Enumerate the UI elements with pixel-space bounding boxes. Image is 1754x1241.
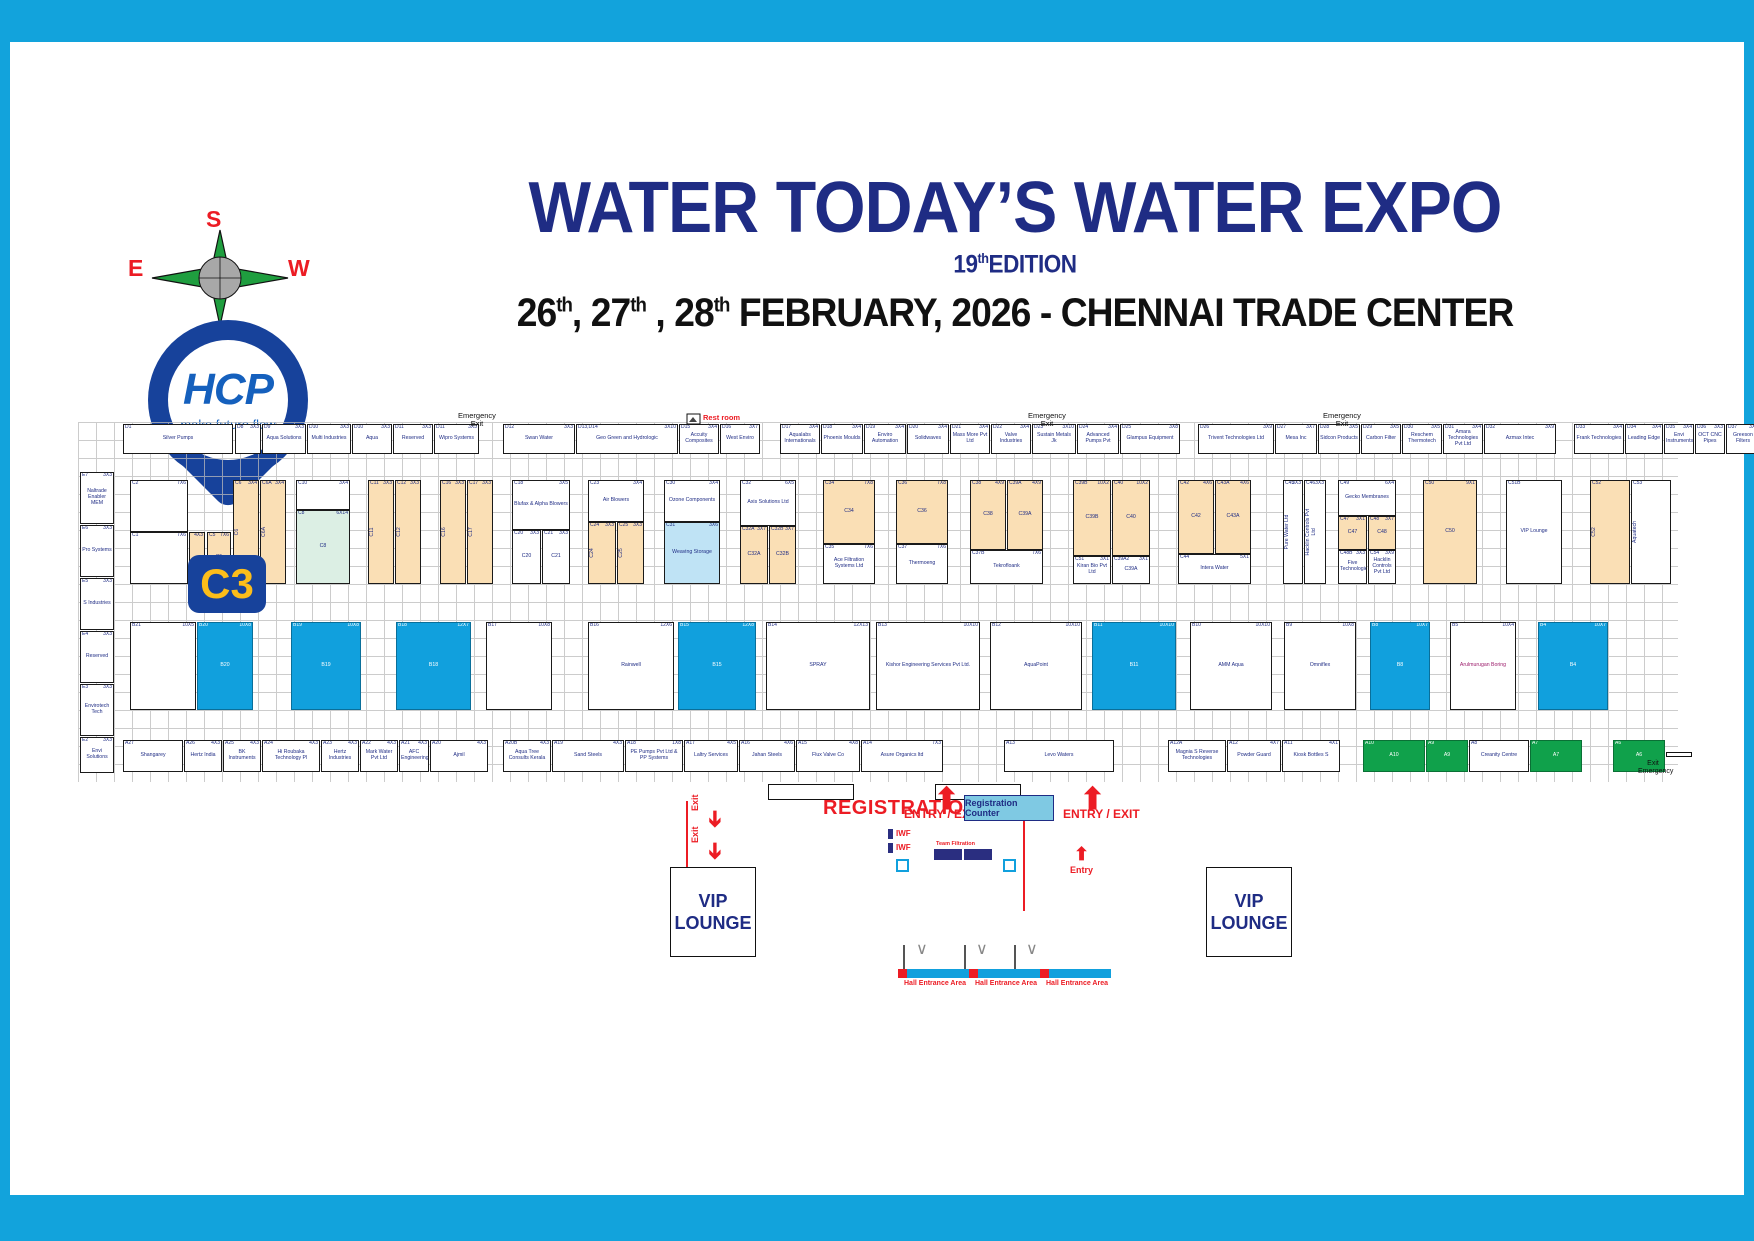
booth-a18[interactable]: A181X8PE Pumps Pvt Ltd & PP Systems [625, 740, 683, 772]
booth-code: D20 [909, 425, 918, 431]
booth-b17[interactable]: B1710X8 [486, 622, 552, 710]
booth-code: C44 [1180, 555, 1189, 561]
team-filtration-label: Team Filtration [936, 841, 975, 847]
booth-dimension: 3X3 [295, 425, 304, 431]
compass-star-icon [150, 228, 290, 328]
exhibition-floorplan[interactable]: D1Silver PumpsD83X3D93X3Aqua SolutionsD1… [78, 422, 1678, 782]
booth-dimension: 3X3 [455, 481, 464, 487]
booth-b11[interactable]: B1110X10B11 [1092, 622, 1176, 710]
booth-b19[interactable]: B1910X8B19 [291, 622, 361, 710]
booth-code: B11 [1094, 623, 1103, 629]
booth-code: C50 [1425, 481, 1434, 487]
booth-name: C6A [261, 527, 285, 537]
booth-code: A7 [1532, 741, 1538, 747]
date-day-2: 27 [591, 291, 631, 335]
booth-d1[interactable]: D1Silver Pumps [123, 424, 233, 454]
booth-d35[interactable]: D353X4Envi Instruments [1664, 424, 1694, 454]
entrance-registration-area[interactable]: REGISTRATION Exit ➔ Exit ➔ ENTRY / EXIT … [78, 787, 1678, 1087]
booth-dimension: 4X3 [540, 741, 549, 747]
booth-c48[interactable]: C483X7C48 [1368, 516, 1396, 550]
booth-dimension: 3X3 [633, 523, 642, 529]
booth-name: C39B [1074, 515, 1110, 521]
booth-b16[interactable]: B1612X6Rainwell [588, 622, 674, 710]
booth-b13[interactable]: B1310X10Kishor Engineering Services Pvt … [876, 622, 980, 710]
booth-code: D10 [354, 425, 363, 431]
booth-d29[interactable]: D293X5Carbon Filter [1361, 424, 1401, 454]
booth-code: D35 [1666, 425, 1675, 431]
edition-ordinal: th [978, 250, 989, 266]
booth-dimension: 10X8 [347, 623, 359, 629]
booth-d10[interactable]: D103X3Aqua [352, 424, 392, 454]
booth-d33[interactable]: D333X4Frank Technologies [1574, 424, 1624, 454]
booth-code: C39B [1075, 481, 1088, 487]
booth-c47[interactable]: C473X1C47 [1338, 516, 1367, 550]
booth-code: C36 [898, 481, 907, 487]
booth-c51[interactable]: C513X1Kiran Bio Pvt Ltd [1073, 556, 1111, 584]
booth-b10[interactable]: B1010X10AMM Aqua [1190, 622, 1272, 710]
booth-d15[interactable]: D153X4Accuity Composites [679, 424, 719, 454]
booth-c50[interactable]: C509X1C50 [1423, 480, 1477, 584]
hall-entrance-label-1: Hall Entrance Area [904, 980, 966, 987]
booth-c11[interactable]: C113X3C11 [368, 480, 394, 584]
booth-d22[interactable]: D223X4Valve Industries [991, 424, 1031, 454]
emergency-exit-label-3: Emergency Exit [1323, 412, 1361, 429]
booth-code: C18 [514, 481, 523, 487]
booth-d19[interactable]: D193X4Enviro Automation [864, 424, 906, 454]
booth-code: A22 [362, 741, 371, 747]
booth-dimension: 3X1 [1356, 517, 1365, 523]
frame-right-bar [1744, 42, 1754, 1195]
booth-c48b[interactable]: C48B3X3Five Technologies [1338, 550, 1367, 584]
booth-name: AFC Engineering [400, 750, 428, 762]
booth-dimension: 3X3 [564, 425, 573, 431]
booth-code: D10 [309, 425, 318, 431]
booth-code: D22 [993, 425, 1002, 431]
booth-code: C17 [469, 481, 478, 487]
booth-code: D33 [1576, 425, 1585, 431]
booth-d9[interactable]: D93X3Aqua Solutions [262, 424, 306, 454]
hall-entrance-label-3: Hall Entrance Area [1046, 980, 1108, 987]
booth-c2[interactable]: C27X6 [130, 480, 188, 532]
booth-dimension: 4X3 [309, 741, 318, 747]
booth-d25[interactable]: D253X8Glampus Equipment [1120, 424, 1180, 454]
hcp-brand-text: HCP [183, 368, 273, 412]
vip-lounge-left[interactable]: VIP LOUNGE [670, 867, 756, 957]
booth-name: Reserved [394, 436, 432, 442]
booth-dimension: 3X4 [979, 425, 988, 431]
booth-name: C21 [543, 554, 569, 560]
booth-code: C46 [1306, 481, 1315, 487]
booth-b9[interactable]: B910X8Omniflex [1284, 622, 1356, 710]
booth-d23[interactable]: D233X10Sustain Metals Jk [1032, 424, 1076, 454]
booth-c38[interactable]: C384X9C38 [970, 480, 1006, 550]
booth-code: A12 [1229, 741, 1238, 747]
booth-dimension: 12X8 [742, 623, 754, 629]
booth-a14[interactable]: A147X3Asure Organics ltd [861, 740, 943, 772]
edition-number: 19 [953, 250, 977, 278]
booth-name: Wipro Systems [435, 436, 478, 442]
booth-d12[interactable]: D123X3Swan Water [503, 424, 575, 454]
booth-c46[interactable]: C463X3Hacklin Controls Pvt Ltd [1304, 480, 1326, 584]
booth-code: C31 [666, 523, 675, 529]
booth-c17[interactable]: C173X3C17 [467, 480, 493, 584]
booth-a25[interactable]: A254X3BK Instruments [223, 740, 261, 772]
booth-name: Levo Waters [1005, 753, 1113, 759]
booth-code: C24 [590, 523, 599, 529]
kiosk-square-left [896, 859, 909, 872]
booth-a9[interactable]: A9A9 [1426, 740, 1468, 772]
booth-dimension: 3X1 [1139, 557, 1148, 563]
booth-dimension: 4X3 [250, 741, 259, 747]
booth-code: A21 [401, 741, 410, 747]
booth-code: D18 [823, 425, 832, 431]
iwf-marker-1 [888, 829, 893, 839]
booth-dimension: 3X3 [381, 425, 390, 431]
booth-c25[interactable]: C253X3C25 [617, 522, 644, 584]
booth-name: Magnia S Reverse Technologies [1169, 750, 1225, 762]
side-booth-3[interactable]: E53X3 S Industries [80, 578, 114, 630]
booth-b8[interactable]: B810X7B8 [1370, 622, 1430, 710]
booth-d34[interactable]: D343X4Leading Edge [1625, 424, 1663, 454]
hall-vee-3-icon: ∨ [1026, 939, 1038, 959]
booth-d18[interactable]: D183X4Phoenix Moulds [821, 424, 863, 454]
booth-dimension: 4X6 [1203, 481, 1212, 487]
booth-code: B5 [1452, 623, 1458, 629]
booth-dimension: 4X6 [784, 741, 793, 747]
booth-dimension: 3X3 [559, 531, 568, 537]
booth-c35[interactable]: C357X6Ace Filtration Systems Ltd [823, 544, 875, 584]
booth-code: A17 [686, 741, 695, 747]
booth-code: C48B [1340, 551, 1353, 557]
booth-code: B12 [992, 623, 1001, 629]
booth-c18[interactable]: C183X5Blufax & Alpha Blowers [512, 480, 570, 530]
booth-c23[interactable]: C233X4Air Blowers [588, 480, 644, 522]
booth-c34[interactable]: C347X8C34 [823, 480, 875, 544]
booth-d16[interactable]: D163X7West Enviro [720, 424, 760, 454]
booth-a27[interactable]: A27Shangarey [123, 740, 183, 772]
booth-name: C52 [1591, 527, 1629, 537]
side-booth-6[interactable]: E23X3 Envi Solutions [80, 737, 114, 773]
exit-label-1: Exit [690, 794, 700, 811]
booth-c39a[interactable]: C39A4X9C39A [1007, 480, 1043, 550]
booth-name: Envirotech Tech [81, 704, 113, 716]
booth-d26[interactable]: D263X9Trivent Technologies Ltd [1198, 424, 1274, 454]
exit-arrow-1-icon: ➔ [704, 810, 726, 828]
booth-c43a[interactable]: C43A4X6C43A [1215, 480, 1251, 554]
booth-code: C42 [1180, 481, 1189, 487]
booth-a24[interactable]: A244X3Hi Roubaka Technology Pl [262, 740, 320, 772]
booth-dimension: 3X9 [1385, 551, 1394, 557]
booth-d24[interactable]: D243X4Advanced Pumps Pvt [1077, 424, 1119, 454]
booth-a23[interactable]: A234X3Hertz Industries [321, 740, 359, 772]
booth-code: C34 [825, 481, 834, 487]
booth-code: C35 [825, 545, 834, 551]
booth-dimension: 3X4 [709, 481, 718, 487]
booth-code: C38 [972, 481, 981, 487]
booth-name: Mesa Inc [1276, 436, 1316, 442]
booth-code: A25 [225, 741, 234, 747]
booth-name: Aquatech [1632, 521, 1670, 543]
booth-d31[interactable]: D313X4Amara Technologies Pvt Ltd [1443, 424, 1483, 454]
booth-name: Sand Steels [553, 753, 623, 759]
booth-d30[interactable]: D303X5Reschem Thermotech [1402, 424, 1442, 454]
vip-lounge-right[interactable]: VIP LOUNGE [1206, 867, 1292, 957]
booth-dimension: 7X8 [937, 481, 946, 487]
booth-a21[interactable]: A214X3AFC Engineering [399, 740, 429, 772]
booth-c8[interactable]: C86X14C8 [296, 510, 350, 584]
emergency-exit-label-2: Emergency Exit [1028, 412, 1066, 429]
booth-c36[interactable]: C367X8C36 [896, 480, 948, 544]
booth-a16[interactable]: A164X6Jahan Steels [739, 740, 795, 772]
frame-top-bar [0, 0, 1754, 42]
booth-name: Hi Roubaka Technology Pl [263, 750, 319, 762]
booth-a12[interactable]: A124X7Powder Guard [1227, 740, 1281, 772]
booth-c37b[interactable]: C37B7X6Tekrofloank [970, 550, 1043, 584]
booth-b21[interactable]: B2110X5 [130, 622, 196, 710]
booth-dim: 3X3 [103, 579, 112, 585]
booth-b14[interactable]: B1412X13SPRAY [766, 622, 870, 710]
rest-room-label: Rest room [703, 414, 740, 422]
booth-code: C32A [742, 527, 755, 533]
frame-left-bar [0, 42, 10, 1195]
booth-dimension: 3X4 [275, 481, 284, 487]
booth-dimension: 3X10 [664, 425, 676, 431]
booth-d21[interactable]: D213X4Mass More Pvt Ltd [950, 424, 990, 454]
booth-dimension: 4X3 [477, 741, 486, 747]
booth-c40[interactable]: C4010X2C40 [1112, 480, 1150, 556]
title-block: WATER TODAY’S WATER EXPO 19thEDITION 26t… [390, 172, 1640, 336]
booth-c39b[interactable]: C39B10X2C39B [1073, 480, 1111, 556]
booth-code: C1 [132, 533, 138, 539]
booth-b5[interactable]: B510X4Arulmurugan Boring [1450, 622, 1516, 710]
booth-c53[interactable]: C53Aquatech [1631, 480, 1671, 584]
booth-d13-d14[interactable]: D13,D143X10Geo Green and Hydrologic [576, 424, 678, 454]
booth-code: C5 [209, 533, 215, 539]
booth-dimension: 3X6 [709, 523, 718, 529]
booth-a11[interactable]: A114X1Kiosk Bottles S [1282, 740, 1340, 772]
booth-c32b[interactable]: C32B3X7C32B [769, 526, 796, 584]
booth-a13[interactable]: A13Levo Waters [1004, 740, 1114, 772]
booth-name: C48 [1369, 530, 1395, 536]
booth-c30[interactable]: C303X4Ozone Components [664, 480, 720, 522]
booth-c1[interactable]: C17X6 [130, 532, 188, 584]
booth-name: Ajmil [431, 753, 487, 759]
booth-name: SPRAY [767, 663, 869, 669]
booth-c21[interactable]: C213X3C21 [542, 530, 570, 584]
booth-c37[interactable]: C377X6Thermoeng [896, 544, 948, 584]
booth-name: C36 [897, 509, 947, 515]
booth-code: A18 [627, 741, 636, 747]
booth-name: C24 [589, 548, 615, 558]
booth-name: Aqua Solutions [263, 436, 305, 442]
rest-room-icon [686, 412, 702, 426]
exit-emergency-label: Exit Emergency [1638, 760, 1668, 777]
hall-vee-2-icon: ∨ [976, 939, 988, 959]
booth-code: C51B [1508, 481, 1521, 487]
booth-name: Shangarey [124, 753, 182, 759]
booth-d28[interactable]: D283X5Sidcon Products [1318, 424, 1360, 454]
booth-dimension: 3X9 [1545, 425, 1554, 431]
registration-counter-box[interactable]: Registration Counter [964, 795, 1054, 821]
booth-name: Kiosk Bottles S [1283, 753, 1339, 759]
booth-code: A6 [1615, 741, 1621, 747]
booth-c32a[interactable]: C32A3X7C32A [740, 526, 768, 584]
booth-code: A20B [505, 741, 517, 747]
booth-name: B15 [679, 663, 755, 669]
booth-c31[interactable]: C313X6Weaving Storage [664, 522, 720, 584]
booth-code: A9 [1428, 741, 1434, 747]
booth-code: D9 [264, 425, 270, 431]
booth-dimension: 3X4 [938, 425, 947, 431]
side-booth-5[interactable]: E33X3 Envirotech Tech [80, 684, 114, 736]
booth-code: D27 [1277, 425, 1286, 431]
booth-code: B19 [293, 623, 302, 629]
booth-b20[interactable]: B2010X8B20 [197, 622, 253, 710]
booth-c51b[interactable]: C51BVIP Lounge [1506, 480, 1562, 584]
booth-a26[interactable]: A264X3Hertz India [184, 740, 222, 772]
booth-code: C52 [1592, 481, 1601, 487]
booth-c39a2[interactable]: C39A23X1C39A [1112, 556, 1150, 584]
booth-name: A9 [1427, 753, 1467, 759]
booth-c20[interactable]: C203X3C20 [512, 530, 541, 584]
booth-c54[interactable]: C543X9Hacklin Controls Pvt Ltd [1368, 550, 1396, 584]
booth-name: C8 [297, 544, 349, 550]
booth-a17[interactable]: A174X5Laltry Services [684, 740, 738, 772]
booth-d10[interactable]: D103X3Multi Industries [307, 424, 351, 454]
booth-name: BK Instruments [224, 750, 260, 762]
entry-arrow-right-icon: ⬆ [1080, 785, 1105, 815]
booth-name: Intera Water [1179, 566, 1250, 572]
booth-dimension: 5X1 [1240, 555, 1249, 561]
entry-arrow-center-icon: ⬆ [1074, 845, 1089, 863]
booth-name: PE Pumps Pvt Ltd & PP Systems [626, 750, 682, 762]
booth-code: C23 [590, 481, 599, 487]
booth-code: D29 [1363, 425, 1372, 431]
booth-code: D17 [782, 425, 791, 431]
booth-code: A8 [1471, 741, 1477, 747]
edition-word: EDITION [989, 250, 1077, 278]
booth-c49[interactable]: C496X4Gecko Membranes [1338, 480, 1396, 516]
compass-rose: S E W [128, 210, 313, 335]
booth-dimension: 3X7 [1385, 517, 1394, 523]
booth-name: Jahan Steels [740, 753, 794, 759]
booth-b12[interactable]: B1210X10AquaPoint [990, 622, 1082, 710]
booth-code: B9 [1286, 623, 1292, 629]
booth-a7[interactable]: A7A7 [1530, 740, 1582, 772]
booth-d37[interactable]: D373X4Greeson Filters [1726, 424, 1754, 454]
booth-a22[interactable]: A224X3Mark Water Pvt Ltd [360, 740, 398, 772]
booth-dimension: 3X3 [530, 531, 539, 537]
booth-c10[interactable]: C103X4 [296, 480, 350, 510]
booth-code: B20 [199, 623, 208, 629]
booth-dim: 3X3 [103, 685, 112, 691]
booth-name: Greeson Filters [1727, 433, 1754, 445]
booth-d20[interactable]: D203X4Solidwaves [907, 424, 949, 454]
exit-label-2: Exit [690, 826, 700, 843]
booth-c44[interactable]: C445X1Intera Water [1178, 554, 1251, 584]
booth-a20[interactable]: A204X3Ajmil [430, 740, 488, 772]
booth-c32[interactable]: C326X5Axis Solutions Ltd [740, 480, 796, 526]
booth-c45[interactable]: C453X3Pure Water Ltd [1283, 480, 1303, 584]
booth-name: Flux Valve Co [797, 753, 859, 759]
booth-code: E7 [82, 473, 88, 479]
booth-d11[interactable]: D113X3Wipro Systems [434, 424, 479, 454]
booth-a15[interactable]: A154X8Flux Valve Co [796, 740, 860, 772]
booth-name: Ozone Components [665, 498, 719, 504]
booth-code: D13,D14 [578, 425, 598, 431]
booth-code: D19 [866, 425, 875, 431]
booth-name: Leading Edge [1626, 436, 1662, 442]
booth-c42[interactable]: C424X6C42 [1178, 480, 1214, 554]
booth-code: C48 [1370, 517, 1379, 523]
booth-name: Pure Water Ltd [1284, 515, 1302, 550]
booth-a8[interactable]: A8Creanity Centre [1469, 740, 1529, 772]
booth-d11[interactable]: D113X3Reserved [393, 424, 433, 454]
booth-code: B10 [1192, 623, 1201, 629]
booth-a10[interactable]: A10A10 [1363, 740, 1425, 772]
booth-name: A6 [1614, 753, 1664, 759]
booth-b4[interactable]: B410X7B4 [1538, 622, 1608, 710]
side-booth-2[interactable]: E63X3 Pro Systems [80, 525, 114, 577]
booth-a20b[interactable]: A20B4X3Aqua Tree Consults Kerala [503, 740, 551, 772]
booth-dimension: 3X5 [1431, 425, 1440, 431]
booth-b18[interactable]: B1812X7B18 [396, 622, 471, 710]
booth-name: Accuity Composites [680, 433, 718, 445]
booth-dimension: 3X9 [1263, 425, 1272, 431]
booth-dimension: 3X3 [605, 523, 614, 529]
booth-dimension: 6X14 [336, 511, 348, 517]
booth-a19[interactable]: A194X3Sand Steels [552, 740, 624, 772]
booth-name: AMM Aqua [1191, 663, 1271, 669]
booth-name: West Enviro [721, 436, 759, 442]
booth-d8[interactable]: D83X3 [235, 424, 261, 454]
booth-code: E2 [82, 738, 88, 744]
booth-name: Blufax & Alpha Blowers [513, 502, 569, 508]
booth-code: D34 [1627, 425, 1636, 431]
booth-c52[interactable]: C52C52 [1590, 480, 1630, 584]
booth-name: Azmax Intec [1485, 436, 1555, 442]
booth-c16[interactable]: C163X3C16 [440, 480, 466, 584]
booth-dimension: 3X4 [1683, 425, 1692, 431]
booth-dimension: 3X8 [1169, 425, 1178, 431]
booth-d36[interactable]: D363X3OCT CNC Pipes [1695, 424, 1725, 454]
booth-code: A12A [1170, 741, 1182, 747]
iwf-label-1: IWF [896, 829, 911, 838]
booth-name: Amara Technologies Pvt Ltd [1444, 430, 1482, 448]
booth-d27[interactable]: D273X7Mesa Inc [1275, 424, 1317, 454]
emergency-exit-label-1: Emergency Exit [458, 412, 496, 429]
side-booth-1[interactable]: E73X3 Naltrade Enabler MEM [80, 472, 114, 524]
booth-dimension: 12X6 [660, 623, 672, 629]
booth-dimension: 3X3 [482, 481, 491, 487]
booth-a12a[interactable]: A12AMagnia S Reverse Technologies [1168, 740, 1226, 772]
hall-bar-cap-1 [898, 969, 907, 978]
booth-dimension: 7X6 [937, 545, 946, 551]
booth-d32[interactable]: D323X9Azmax Intec [1484, 424, 1556, 454]
booth-name: C32A [741, 552, 767, 558]
booth-d17[interactable]: D173X4Aqualabs Internationals [780, 424, 820, 454]
booth-c24[interactable]: C243X3C24 [588, 522, 616, 584]
hall-tick-1 [903, 945, 905, 969]
booth-name: Hertz India [185, 753, 221, 759]
booth-name: C47 [1339, 530, 1366, 536]
booth-name: C39A [1113, 567, 1149, 573]
booth-c12[interactable]: C123X3C12 [395, 480, 421, 584]
booth-b15[interactable]: B1512X8B15 [678, 622, 756, 710]
side-booth-4[interactable]: E43X3 Reserved [80, 631, 114, 683]
booth-dimension: 4X3 [613, 741, 622, 747]
booth-code: A15 [798, 741, 807, 747]
